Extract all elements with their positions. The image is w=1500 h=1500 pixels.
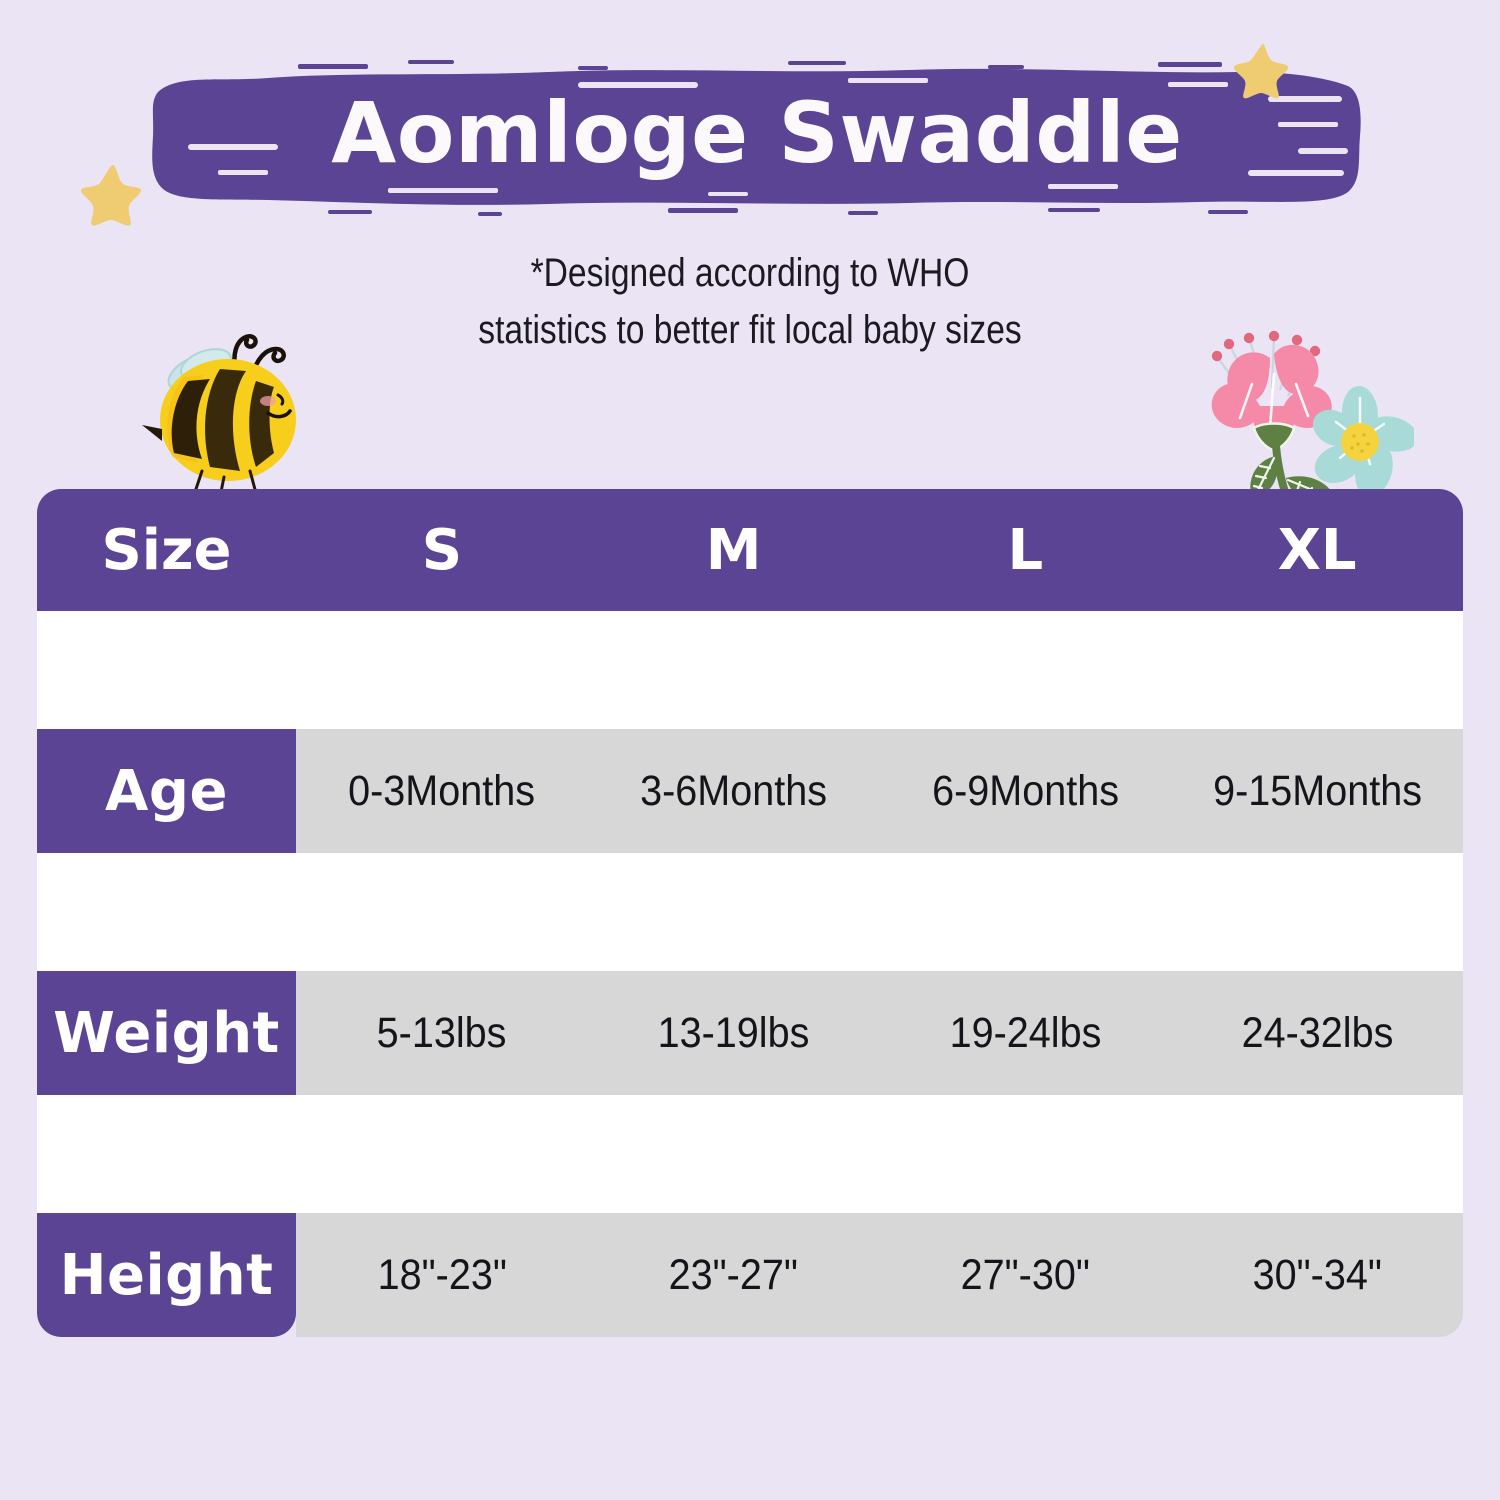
- flower-icon: [1178, 318, 1414, 510]
- row-label-height: Height: [37, 1213, 296, 1337]
- page-title: Aomloge Swaddle: [148, 52, 1366, 220]
- table-spacer: [37, 611, 1463, 729]
- cell-age-xl: 9-15Months: [1171, 729, 1463, 853]
- cell-weight-m: 13-19lbs: [588, 971, 880, 1095]
- table-row-weight: Weight 5-13lbs 13-19lbs 19-24lbs 24-32lb…: [37, 971, 1463, 1095]
- cell-height-s: 18"-23": [296, 1213, 588, 1337]
- table-row-age: Age 0-3Months 3-6Months 6-9Months 9-15Mo…: [37, 729, 1463, 853]
- title-banner: Aomloge Swaddle: [148, 52, 1366, 220]
- cell-age-l: 6-9Months: [880, 729, 1172, 853]
- header-cell-m: M: [588, 489, 880, 611]
- cell-weight-s: 5-13lbs: [296, 971, 588, 1095]
- table-spacer: [37, 1095, 1463, 1213]
- header-cell-s: S: [296, 489, 588, 611]
- cell-age-m: 3-6Months: [588, 729, 880, 853]
- table-spacer: [37, 853, 1463, 971]
- cell-height-l: 27"-30": [880, 1213, 1172, 1337]
- table-header-row: Size S M L XL: [37, 489, 1463, 611]
- size-chart-table: Size S M L XL Age 0-3Months 3-6Months 6-…: [37, 489, 1463, 1337]
- star-icon: [78, 160, 148, 230]
- row-label-age: Age: [37, 729, 296, 853]
- row-label-weight: Weight: [37, 971, 296, 1095]
- star-icon: [1232, 40, 1294, 102]
- header-cell-l: L: [880, 489, 1172, 611]
- cell-weight-l: 19-24lbs: [880, 971, 1172, 1095]
- table-row-height: Height 18"-23" 23"-27" 27"-30" 30"-34": [37, 1213, 1463, 1337]
- cell-weight-xl: 24-32lbs: [1171, 971, 1463, 1095]
- header-cell-xl: XL: [1171, 489, 1463, 611]
- cell-age-s: 0-3Months: [296, 729, 588, 853]
- header-cell-size: Size: [37, 489, 296, 611]
- cell-height-m: 23"-27": [588, 1213, 880, 1337]
- cell-height-xl: 30"-34": [1171, 1213, 1463, 1337]
- subtitle-line-1: *Designed according to WHO: [120, 245, 1380, 302]
